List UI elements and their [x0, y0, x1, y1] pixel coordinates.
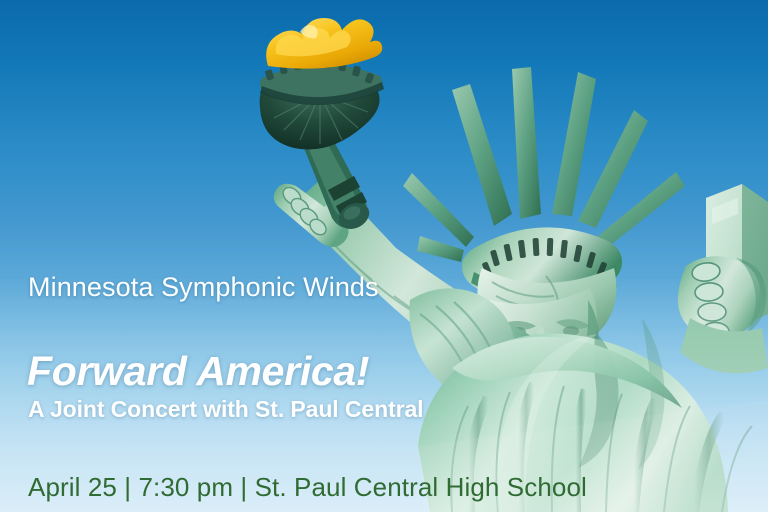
event-details: April 25 | 7:30 pm | St. Paul Central Hi… [28, 472, 587, 503]
concert-subtitle: A Joint Concert with St. Paul Central [28, 396, 423, 423]
concert-poster: Minnesota Symphonic Winds Forward Americ… [0, 0, 768, 512]
organization-name: Minnesota Symphonic Winds [28, 272, 379, 303]
poster-text-layer: Minnesota Symphonic Winds Forward Americ… [0, 0, 768, 512]
page-title: Forward America! [27, 348, 369, 395]
